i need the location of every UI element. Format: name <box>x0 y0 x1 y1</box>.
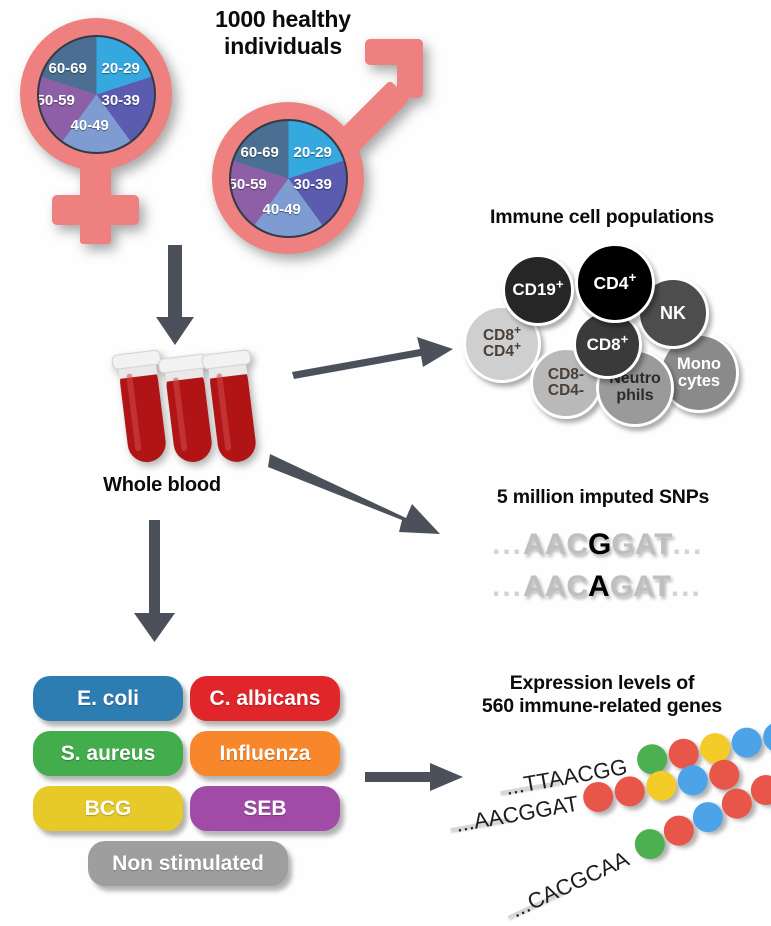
pie-slice-label-40-49: 40-49 <box>263 201 301 218</box>
stimulus-seb[interactable]: SEB <box>190 786 340 831</box>
arrow-blood-to-snps <box>268 452 443 542</box>
snp-left-bases: AAC <box>523 528 588 562</box>
female-symbol-ring: 20-29 30-39 40-49 50-59 60-69 <box>20 18 172 170</box>
snp-prefix-dots: ... <box>492 570 523 604</box>
snp-right-bases: GAT <box>610 570 671 604</box>
snp-right-bases: GAT <box>611 528 672 562</box>
stimulus-label: C. albicans <box>210 687 321 711</box>
female-symbol-crossbar <box>52 195 139 225</box>
label-whole-blood: Whole blood <box>62 474 262 498</box>
cell-label-line1: CD8 <box>483 327 514 344</box>
arrow-blood-to-stimuli <box>130 520 180 645</box>
stimulus-label: E. coli <box>77 687 139 711</box>
immune-cell-cd4-positive: CD4+ <box>575 243 655 323</box>
snp-sequence-row-a: ...AACAGAT... <box>492 570 702 604</box>
section-title-snps: 5 million imputed SNPs <box>443 486 763 509</box>
stimulus-e-coli[interactable]: E. coli <box>33 676 183 721</box>
snp-prefix-dots: ... <box>492 528 523 562</box>
snp-suffix-dots: ... <box>672 528 703 562</box>
stimulus-c-albicans[interactable]: C. albicans <box>190 676 340 721</box>
snp-sequence-row-g: ...AACGGAT... <box>492 528 703 562</box>
female-age-pie-chart: 20-29 30-39 40-49 50-59 60-69 <box>37 35 156 154</box>
arrow-blood-to-immune-cells <box>290 335 455 380</box>
pie-slice-label-30-39: 30-39 <box>102 92 140 109</box>
male-age-pie-chart: 20-29 30-39 40-49 50-59 60-69 <box>229 119 348 238</box>
stimulus-s-aureus[interactable]: S. aureus <box>33 731 183 776</box>
cell-label-cd19-sup: + <box>556 276 564 291</box>
cell-label-line2: CD4 <box>483 343 514 360</box>
bead <box>729 725 764 760</box>
cell-label-line1: CD8- <box>548 366 584 383</box>
male-symbol-ring: 20-29 30-39 40-49 50-59 60-69 <box>212 102 364 254</box>
stimulus-label: SEB <box>243 797 286 821</box>
pie-slice-label-50-59: 50-59 <box>229 176 267 193</box>
section-title-expression: Expression levels of 560 immune-related … <box>437 672 767 718</box>
cell-label-line2: cytes <box>678 372 720 390</box>
cell-label-cd8-sup: + <box>621 331 629 346</box>
pie-slice-label-40-49: 40-49 <box>71 117 109 134</box>
cell-label-sup1: + <box>514 323 521 337</box>
male-symbol: 20-29 30-39 40-49 50-59 60-69 <box>205 30 420 245</box>
pie-slice-label-30-39: 30-39 <box>294 176 332 193</box>
pie-slice-label-50-59: 50-59 <box>37 92 75 109</box>
snp-suffix-dots: ... <box>671 570 702 604</box>
cell-label-cd4: CD4 <box>594 273 629 293</box>
bead <box>761 720 771 755</box>
stimulus-label: S. aureus <box>61 742 156 766</box>
snp-variant-base: G <box>588 528 611 562</box>
strand-bottom-sequence: ...CACGCAA <box>507 846 633 923</box>
stimulus-label: Influenza <box>219 742 310 766</box>
pie-slice-label-60-69: 60-69 <box>49 60 87 77</box>
immune-cell-cd19-positive: CD19+ <box>502 254 574 326</box>
pie-slice-label-20-29: 20-29 <box>102 60 140 77</box>
cell-label-cd8: CD8 <box>587 335 621 354</box>
male-symbol-arrowhead-bar2 <box>397 39 423 98</box>
pie-slice-label-60-69: 60-69 <box>241 144 279 161</box>
stimulus-label: BCG <box>85 797 132 821</box>
female-symbol: 20-29 30-39 40-49 50-59 60-69 <box>8 12 183 247</box>
cell-label-nk: NK <box>660 304 686 323</box>
cell-label-cd4-sup: + <box>629 270 637 285</box>
cell-label-cd19: CD19 <box>512 280 555 299</box>
section-title-immune-cells: Immune cell populations <box>437 206 767 229</box>
arrow-stimuli-to-expression <box>365 762 465 792</box>
arrow-individuals-to-blood <box>150 245 200 350</box>
snp-left-bases: AAC <box>523 570 588 604</box>
stimulus-influenza[interactable]: Influenza <box>190 731 340 776</box>
pie-slice-label-20-29: 20-29 <box>294 144 332 161</box>
cell-label-line2: phils <box>616 387 653 404</box>
title-expression-line2: 560 immune-related genes <box>437 695 767 718</box>
title-expression-line1: Expression levels of <box>437 672 767 695</box>
stimulus-non-stimulated[interactable]: Non stimulated <box>88 841 288 886</box>
stimulus-label: Non stimulated <box>112 852 264 876</box>
cell-label-line2: CD4- <box>548 382 584 399</box>
blood-tubes-icon <box>105 340 275 470</box>
cell-label-line1: Mono <box>677 355 721 373</box>
cell-label-sup2: + <box>514 339 521 353</box>
stimulus-bcg[interactable]: BCG <box>33 786 183 831</box>
snp-variant-base: A <box>588 570 610 604</box>
